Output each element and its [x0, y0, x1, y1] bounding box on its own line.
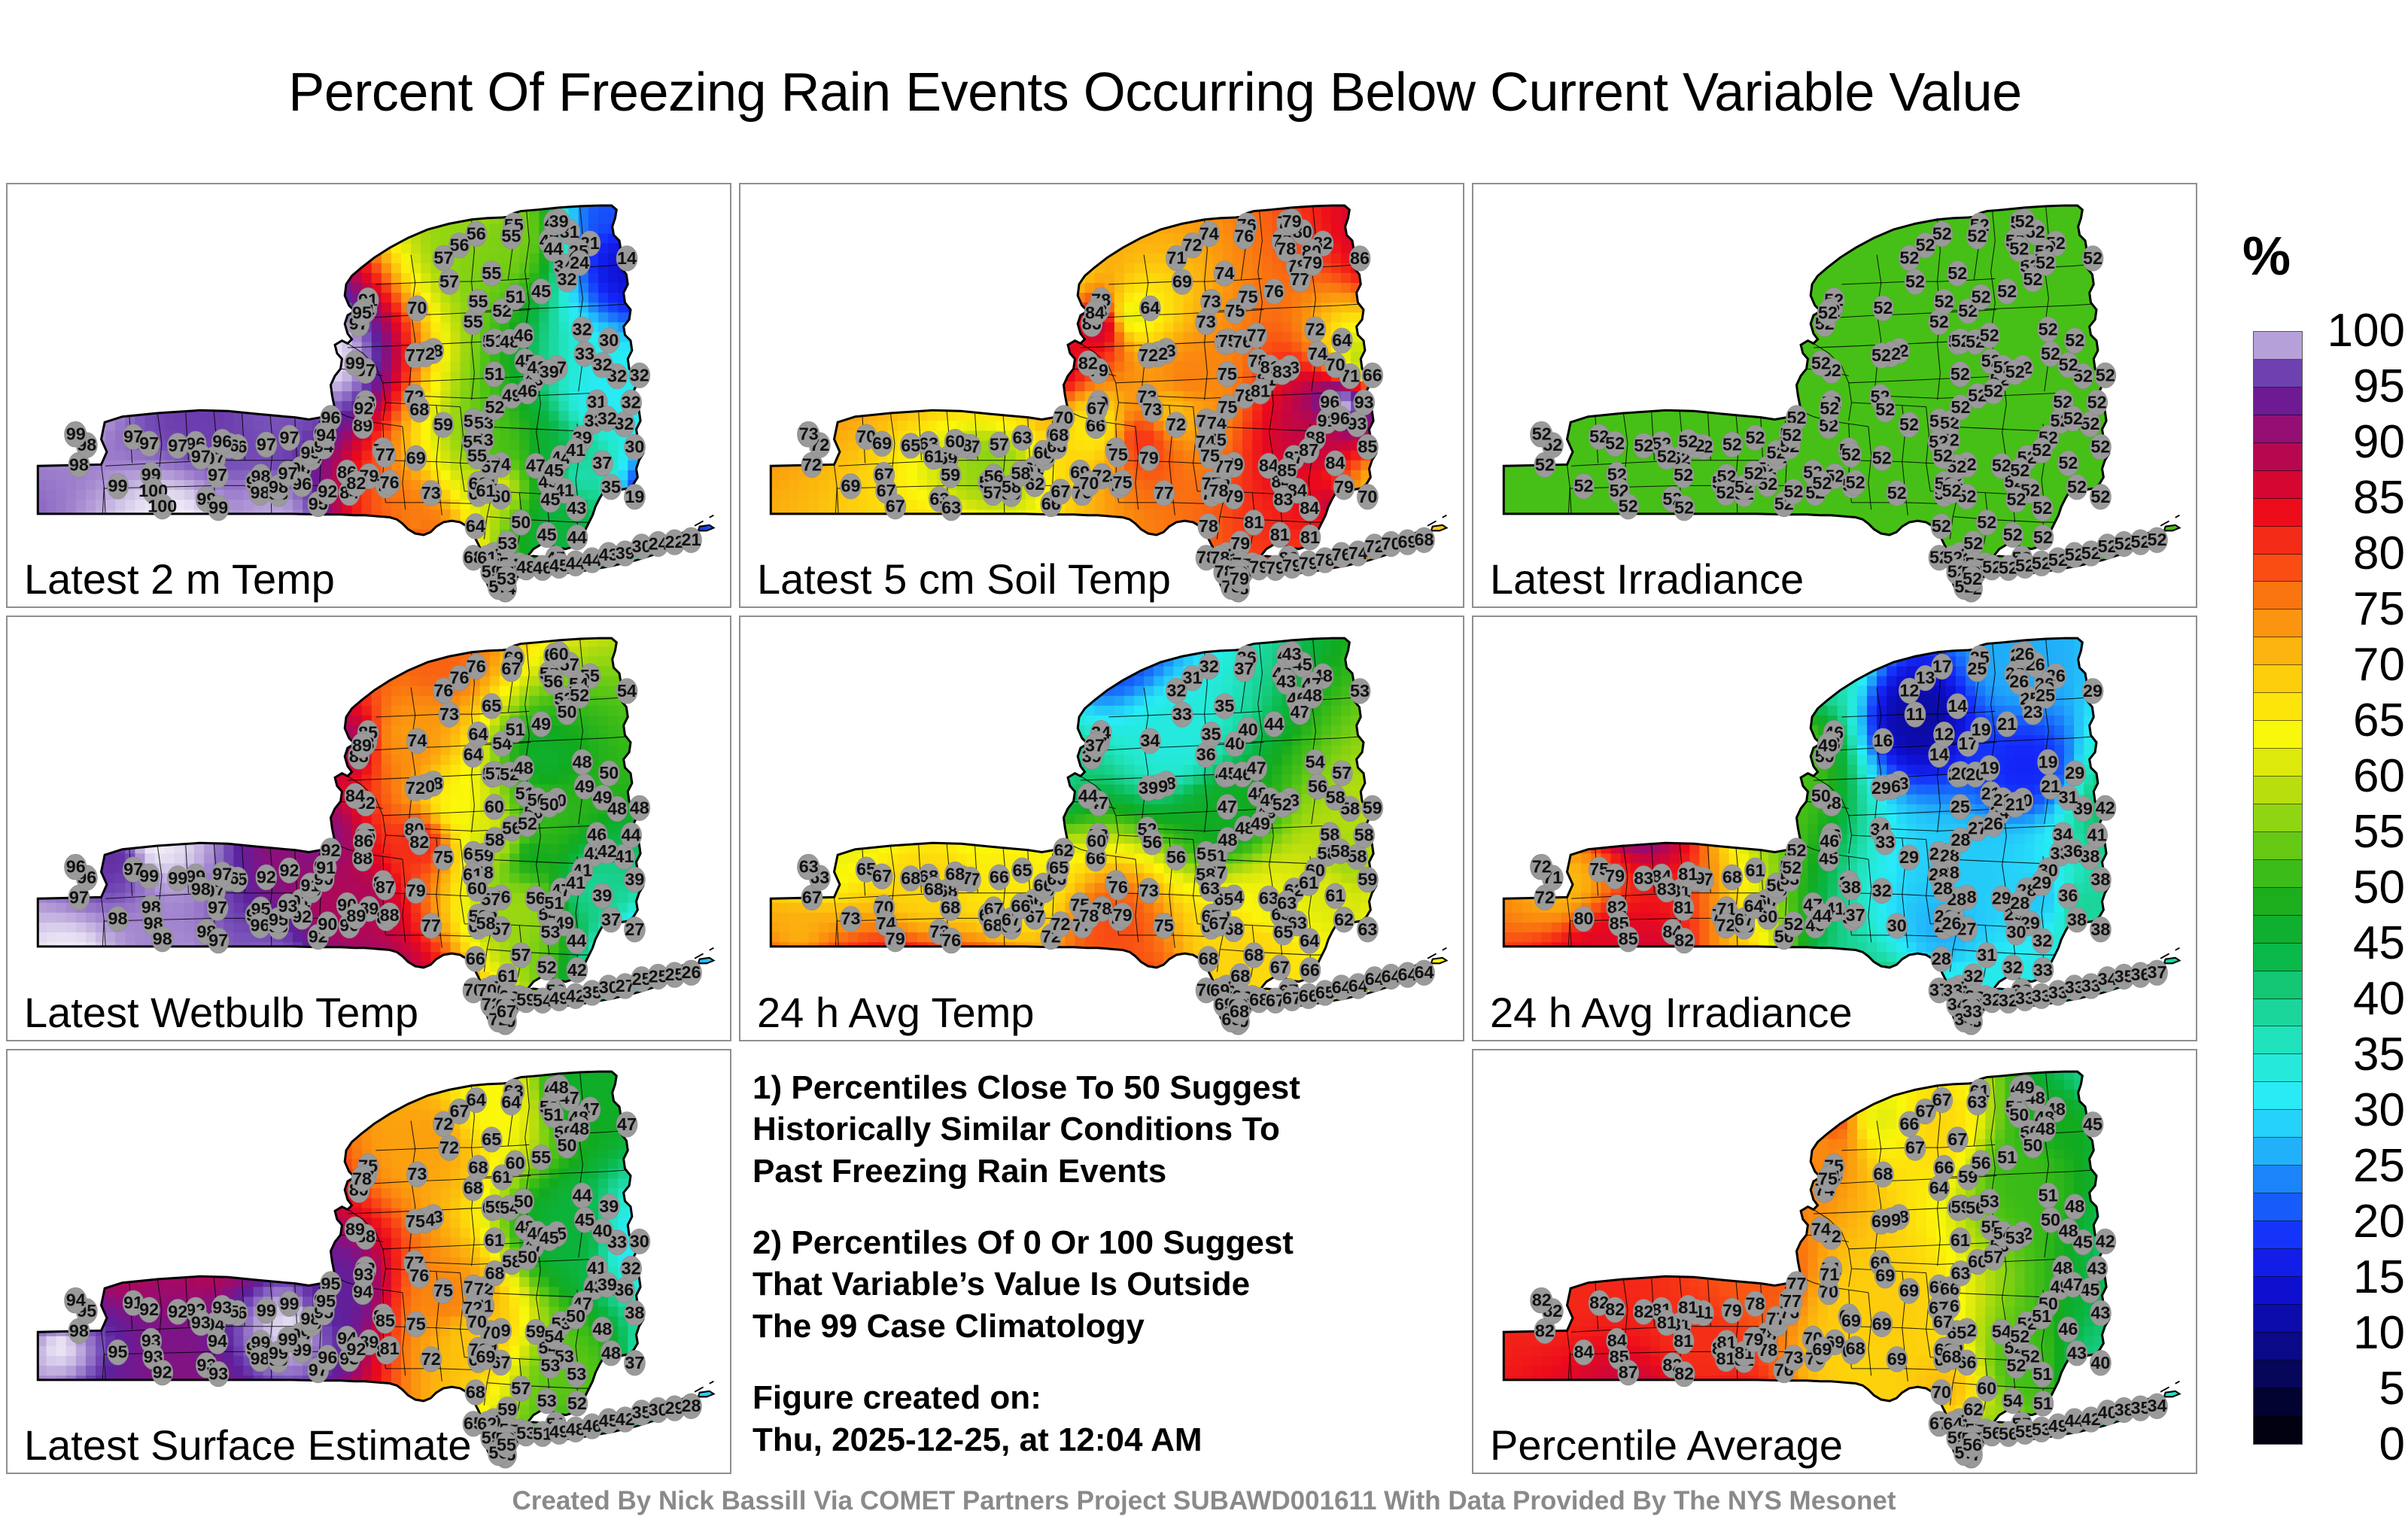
- station-marker: 78: [1208, 479, 1229, 504]
- colorbar-segment: [2254, 832, 2302, 860]
- map-panel-latest-5cm-soil-temp[interactable]: 6761675773576359575669576663586563706662…: [739, 183, 1464, 608]
- station-marker: 82: [1674, 929, 1695, 954]
- station-marker: 51: [2038, 1183, 2059, 1208]
- station-marker: 29: [2064, 761, 2085, 786]
- panel-label: Latest 5 cm Soil Temp: [757, 558, 1171, 600]
- svg-text:32: 32: [573, 319, 592, 339]
- station-marker: 68: [1722, 865, 1743, 890]
- station-marker: 52: [1743, 460, 1764, 486]
- station-marker: 53: [1979, 1189, 2000, 1214]
- colorbar-tick-label: 50: [2353, 865, 2405, 911]
- station-marker: 83: [1656, 877, 1677, 903]
- station-marker: 52: [1871, 445, 1893, 471]
- station-marker: 52: [1947, 261, 1968, 287]
- station-marker: 56: [1962, 1432, 1983, 1457]
- svg-text:41: 41: [566, 440, 585, 460]
- station-marker: 70: [467, 1309, 488, 1335]
- map-panel-latest-wetbulb-temp[interactable]: 9891989596969997959598929292969098979192…: [6, 616, 731, 1041]
- colorbar-segment: [2254, 471, 2302, 499]
- colorbar-segment: [2254, 1249, 2302, 1277]
- station-marker: 52: [2035, 251, 2056, 276]
- station-marker: 97: [256, 432, 277, 457]
- station-marker: 51: [2032, 1361, 2053, 1387]
- station-marker: 60: [1086, 829, 1107, 855]
- station-marker: 57: [1983, 1245, 2004, 1270]
- map-panel-24h-avg-temp[interactable]: 7066746763676868676773667265676673656667…: [739, 616, 1464, 1041]
- station-marker: 94: [65, 1287, 87, 1313]
- colorbar-segment: [2254, 1333, 2302, 1360]
- station-marker: 52: [567, 1391, 588, 1416]
- svg-text:55: 55: [468, 292, 488, 312]
- station-marker: 43: [566, 496, 587, 521]
- station-marker: 68: [465, 1379, 486, 1405]
- station-marker: 52: [1931, 514, 1952, 540]
- station-marker: 68: [1941, 1344, 1962, 1369]
- station-marker: 37: [1233, 657, 1254, 682]
- station-marker: 78: [351, 1166, 372, 1192]
- svg-text:97: 97: [191, 447, 211, 467]
- station-marker: 82: [409, 830, 430, 856]
- svg-text:30: 30: [625, 437, 644, 457]
- station-marker: 48: [513, 755, 534, 781]
- station-marker: 45: [539, 1225, 560, 1251]
- station-marker: 84: [1258, 453, 1279, 479]
- panel-label: 24 h Avg Irradiance: [1490, 992, 1853, 1034]
- station-marker: 59: [1357, 868, 1378, 893]
- station-marker: 36: [2057, 883, 2078, 909]
- station-marker: 45: [574, 1207, 595, 1233]
- station-marker: 42: [2095, 1229, 2116, 1254]
- station-marker: 61: [1950, 1227, 1971, 1253]
- station-marker: 52: [2006, 487, 2027, 512]
- station-marker: 67: [500, 657, 521, 682]
- svg-text:97: 97: [168, 436, 187, 455]
- station-marker: 52: [2090, 484, 2111, 509]
- station-marker: 76: [409, 1263, 430, 1288]
- panel-label: Latest 2 m Temp: [24, 558, 335, 600]
- station-marker: 74: [1214, 261, 1235, 287]
- station-marker: 86: [1349, 246, 1370, 272]
- station-marker: 97: [211, 862, 233, 888]
- station-marker: 59: [525, 1319, 546, 1345]
- station-marker: 52: [2006, 1353, 2027, 1378]
- station-marker: 97: [208, 929, 229, 954]
- station-marker: 50: [1811, 783, 1832, 809]
- station-marker: 52: [2009, 1324, 2030, 1349]
- station-marker: 74: [1307, 342, 1328, 367]
- station-marker: 50: [517, 1245, 538, 1270]
- station-marker: 81: [1243, 510, 1264, 536]
- station-marker: 32: [572, 317, 593, 342]
- colorbar-tick-label: 95: [2353, 363, 2405, 410]
- station-marker: 33: [2033, 958, 2054, 983]
- station-marker: 77: [1154, 481, 1175, 506]
- colorbar-segment: [2254, 1082, 2302, 1110]
- colorbar-segment: [2254, 1388, 2302, 1416]
- station-marker: 61: [923, 444, 944, 470]
- colorbar-segment: [2254, 1026, 2302, 1054]
- colorbar-legend: % 10095908580757065605550454035302520151…: [2221, 226, 2408, 1475]
- svg-text:55: 55: [464, 312, 483, 331]
- station-marker: 12: [1933, 722, 1954, 748]
- station-marker: 72: [1531, 855, 1552, 880]
- station-marker: 52: [1950, 362, 1971, 388]
- station-marker: 84: [1573, 1339, 1595, 1365]
- station-marker: 66: [1010, 894, 1031, 919]
- colorbar-segment: [2254, 888, 2302, 916]
- svg-text:35: 35: [601, 477, 621, 497]
- colorbar-tick-label: 45: [2353, 920, 2405, 967]
- station-marker: 68: [1048, 423, 1069, 448]
- station-marker: 95: [351, 300, 372, 326]
- station-marker: 28: [1932, 877, 1953, 902]
- station-marker: 69: [406, 445, 427, 471]
- station-marker: 87: [375, 875, 396, 901]
- station-marker: 32: [621, 1256, 642, 1281]
- station-marker: 54: [543, 1324, 564, 1349]
- station-marker: 26: [1941, 911, 1962, 937]
- station-marker: 50: [565, 1303, 586, 1329]
- station-marker: 24: [569, 251, 590, 276]
- station-marker: 21: [680, 527, 701, 553]
- panel-label: Latest Surface Estimate: [24, 1424, 472, 1467]
- station-marker: 93: [1354, 390, 1375, 415]
- station-marker: 79: [1722, 1298, 1743, 1324]
- station-marker: 68: [467, 1155, 488, 1181]
- station-marker: 65: [481, 1126, 502, 1152]
- station-marker: 66: [1899, 1111, 1920, 1137]
- colorbar-segment: [2254, 555, 2302, 582]
- station-marker: 84: [1299, 496, 1320, 521]
- station-marker: 52: [2008, 236, 2029, 262]
- station-marker: 32: [597, 406, 618, 432]
- station-marker: 96: [250, 913, 271, 939]
- station-marker: 67: [496, 999, 517, 1025]
- station-marker: 99: [278, 1291, 299, 1317]
- station-marker: 63: [1966, 1090, 1987, 1115]
- station-marker: 52: [1966, 223, 1987, 249]
- station-marker: 52: [1618, 494, 1639, 519]
- colorbar-segment: [2254, 1305, 2302, 1333]
- station-marker: 38: [2066, 907, 2087, 933]
- station-marker: 56: [1166, 845, 1187, 871]
- station-marker: 79: [1302, 251, 1323, 276]
- station-marker: 84: [1084, 300, 1105, 326]
- station-marker: 11: [1905, 702, 1926, 728]
- station-marker: 62: [1333, 907, 1354, 933]
- svg-text:45: 45: [541, 490, 561, 509]
- station-marker: 97: [277, 460, 298, 486]
- station-marker: 82: [1531, 1287, 1552, 1313]
- station-marker: 46: [513, 323, 534, 348]
- station-marker: 78: [1198, 514, 1219, 540]
- station-marker: 92: [353, 396, 374, 421]
- station-marker: 42: [597, 839, 618, 865]
- svg-text:37: 37: [592, 453, 612, 473]
- station-marker: 60: [549, 642, 570, 667]
- station-marker: 64: [1299, 929, 1320, 954]
- station-marker: 42: [567, 958, 588, 983]
- svg-text:99: 99: [345, 353, 365, 372]
- svg-text:32: 32: [622, 392, 641, 412]
- svg-text:97: 97: [279, 427, 299, 447]
- panel-label: 24 h Avg Temp: [757, 992, 1034, 1034]
- station-marker: 44: [1078, 783, 1099, 809]
- station-marker: 99: [256, 1298, 277, 1324]
- svg-text:32: 32: [630, 365, 649, 385]
- station-marker: 85: [1276, 458, 1297, 484]
- station-marker: 70: [406, 296, 427, 321]
- colorbar-tick-label: 20: [2353, 1199, 2405, 1245]
- station-marker: 52: [1811, 351, 1832, 376]
- station-marker: 39: [591, 883, 613, 909]
- station-marker: 69: [871, 431, 892, 457]
- station-marker: 58: [1354, 822, 1375, 848]
- station-marker: 98: [190, 877, 211, 903]
- station-marker: 79: [406, 878, 427, 904]
- station-marker: 89: [345, 904, 366, 929]
- station-marker: 38: [624, 1300, 645, 1326]
- station-marker: 60: [467, 877, 488, 902]
- station-marker: 52: [1872, 296, 1893, 321]
- svg-text:59: 59: [433, 415, 453, 434]
- station-marker: 72: [433, 1111, 454, 1137]
- svg-text:57: 57: [439, 272, 459, 291]
- map-panel-latest-surface-estimate[interactable]: 9399939994989294969995999799959893919899…: [6, 1049, 731, 1474]
- station-marker: 67: [1905, 1135, 1926, 1160]
- station-marker: 61: [484, 1227, 505, 1253]
- note-2-line-2: That Variable’s Value Is Outside: [752, 1263, 1451, 1305]
- station-marker: 52: [2033, 524, 2054, 550]
- svg-text:92: 92: [354, 399, 373, 418]
- station-marker: 26: [2008, 670, 2029, 695]
- station-marker: 82: [1604, 1297, 1625, 1323]
- svg-text:61: 61: [476, 481, 495, 500]
- station-marker: 47: [525, 453, 546, 479]
- station-marker: 29: [1899, 845, 1920, 871]
- station-marker: 66: [465, 947, 486, 972]
- colorbar-segment: [2254, 971, 2302, 999]
- station-marker: 48: [629, 795, 650, 821]
- station-marker: 78: [1078, 904, 1099, 929]
- notes-spacer: [752, 1192, 1451, 1222]
- station-marker: 30: [629, 1229, 650, 1254]
- created-on-label: Figure created on:: [752, 1377, 1451, 1418]
- station-marker: 48: [1302, 683, 1323, 709]
- svg-text:99: 99: [208, 498, 228, 518]
- panel-label: Latest Wetbulb Temp: [24, 992, 418, 1034]
- svg-text:44: 44: [567, 527, 587, 547]
- station-marker: 48: [591, 1317, 613, 1342]
- station-marker: 52: [2057, 451, 2078, 476]
- notes-panel: 1) Percentiles Close To 50 SuggestHistor…: [739, 1049, 1464, 1474]
- colorbar-tick-label: 75: [2353, 586, 2405, 633]
- station-marker: 52: [1783, 912, 1804, 938]
- station-marker: 52: [1656, 444, 1677, 470]
- station-marker: 52: [1871, 343, 1892, 369]
- station-marker: 52: [2066, 474, 2087, 500]
- station-marker: 75: [405, 1208, 426, 1234]
- station-marker: 30: [598, 328, 619, 354]
- station-marker: 39: [624, 868, 645, 893]
- station-marker: 81: [1269, 522, 1291, 548]
- station-marker: 57: [983, 480, 1004, 506]
- svg-text:24: 24: [570, 253, 589, 272]
- station-marker: 50: [510, 510, 531, 536]
- station-marker: 34: [2146, 1394, 2167, 1419]
- station-marker: 26: [1983, 812, 2004, 837]
- station-marker: 75: [1112, 470, 1133, 496]
- station-marker: 94: [315, 423, 336, 448]
- svg-text:55: 55: [467, 446, 487, 466]
- station-marker: 97: [190, 444, 211, 470]
- map-panel-latest-irradiance[interactable]: 5252525252525252525252525252525252525252…: [1472, 183, 2197, 608]
- station-marker: 26: [2014, 642, 2036, 667]
- station-marker: 64: [1331, 328, 1352, 354]
- station-marker: 19: [2038, 749, 2059, 775]
- colorbar-tick-label: 55: [2353, 809, 2405, 856]
- station-marker: 52: [1811, 471, 1832, 497]
- svg-text:76: 76: [380, 473, 400, 492]
- station-marker: 52: [2082, 246, 2103, 272]
- svg-text:45: 45: [531, 281, 551, 301]
- station-marker: 68: [940, 895, 961, 921]
- station-marker: 67: [1947, 1126, 1968, 1152]
- colorbar-segment: [2254, 332, 2302, 360]
- station-marker: 60: [484, 795, 505, 820]
- station-marker: 57: [433, 245, 454, 271]
- station-marker: 29: [2031, 871, 2052, 896]
- station-marker: 66: [989, 865, 1010, 890]
- station-marker: 31: [1976, 943, 1997, 968]
- svg-text:30: 30: [599, 330, 619, 350]
- station-marker: 92: [317, 479, 338, 505]
- choropleth-map: 8260857172738481777180685661795684755660…: [1473, 617, 2196, 1039]
- station-marker: 69: [1811, 1337, 1832, 1363]
- station-marker: 37: [1845, 903, 1866, 929]
- station-marker: 65: [1273, 920, 1294, 946]
- station-marker: 99: [277, 1327, 298, 1352]
- station-marker: 82: [1633, 1299, 1654, 1324]
- station-marker: 33: [1172, 702, 1193, 728]
- station-marker: 67: [885, 494, 906, 519]
- station-marker: 52: [1673, 463, 1694, 488]
- map-panel-24h-avg-irradiance[interactable]: 8260857172738481777180685661795684755660…: [1472, 616, 2197, 1041]
- station-marker: 86: [353, 829, 374, 855]
- map-panel-percentile-average[interactable]: 8478858182818181818184797678817782827778…: [1472, 1049, 2197, 1474]
- station-marker: 16: [1872, 728, 1893, 754]
- colorbar-segment: [2254, 388, 2302, 415]
- station-marker: 56: [1307, 774, 1328, 800]
- station-marker: 52: [537, 955, 558, 980]
- station-marker: 93: [277, 894, 298, 919]
- station-marker: 39: [539, 360, 560, 385]
- station-marker: 39: [549, 209, 570, 235]
- map-canvas: 9996100989998969796989997959796949997959…: [8, 184, 730, 606]
- station-marker: 68: [1872, 1162, 1893, 1187]
- station-marker: 51: [2031, 1303, 2052, 1329]
- choropleth-map: 9996100989998969796989997959796949997959…: [8, 184, 730, 606]
- station-marker: 79: [1604, 864, 1625, 889]
- station-marker: 33: [1874, 830, 1896, 856]
- station-marker: 52: [1971, 284, 1992, 310]
- station-marker: 52: [1932, 443, 1953, 469]
- station-marker: 63: [798, 855, 819, 880]
- map-panel-latest-2m-temp[interactable]: 9996100989998969796989997959796949997959…: [6, 183, 731, 608]
- station-marker: 52: [1744, 425, 1765, 451]
- station-marker: 69: [1871, 1312, 1893, 1337]
- station-marker: 35: [1200, 722, 1221, 748]
- svg-text:55: 55: [482, 263, 501, 283]
- station-marker: 47: [1217, 795, 1238, 820]
- station-marker: 55: [467, 443, 488, 469]
- station-marker: 57: [989, 432, 1010, 457]
- station-marker: 25: [1950, 795, 1971, 820]
- station-marker: 67: [1932, 1309, 1953, 1335]
- colorbar-tick-label: 10: [2353, 1310, 2405, 1357]
- station-marker: 52: [1604, 431, 1625, 457]
- station-marker: 39: [597, 1272, 618, 1297]
- station-marker: 81: [1656, 1310, 1677, 1336]
- station-marker: 63: [1011, 425, 1032, 451]
- station-marker: 60: [1976, 1375, 1997, 1401]
- colorbar-tick-label: 35: [2353, 1032, 2405, 1078]
- colorbar-tick-label: 0: [2379, 1421, 2405, 1468]
- colorbar-tick-label: 15: [2353, 1254, 2405, 1301]
- station-marker: 29: [1871, 776, 1892, 801]
- station-marker: 41: [2087, 822, 2108, 848]
- station-marker: 37: [2146, 960, 2167, 986]
- footer-credit: Created By Nick Bassill Via COMET Partne…: [0, 1486, 2408, 1516]
- svg-text:82: 82: [346, 473, 366, 493]
- station-marker: 80: [1573, 907, 1595, 932]
- station-marker: 37: [600, 907, 622, 933]
- station-marker: 12: [1899, 678, 1920, 704]
- colorbar-segment: [2254, 1416, 2302, 1444]
- station-marker: 61: [1744, 858, 1765, 883]
- station-marker: 47: [1246, 755, 1267, 781]
- station-marker: 52: [2064, 328, 2085, 354]
- choropleth-map: 7066746763676868676773667265676673656667…: [740, 617, 1463, 1039]
- station-marker: 43: [2090, 1300, 2111, 1326]
- colorbar-tick-label: 65: [2353, 698, 2405, 744]
- station-marker: 52: [1905, 269, 1926, 295]
- station-marker: 51: [2033, 1391, 2054, 1416]
- station-marker: 95: [108, 1339, 129, 1365]
- station-marker: 21: [2040, 774, 2061, 800]
- station-marker: 25: [2035, 683, 2056, 709]
- station-marker: 45: [543, 458, 564, 484]
- station-marker: 73: [439, 702, 460, 728]
- colorbar-segment: [2254, 777, 2302, 804]
- svg-text:57: 57: [433, 248, 453, 267]
- map-canvas: 8478858182818181818184797678817782827778…: [1473, 1050, 2196, 1473]
- svg-text:64: 64: [466, 516, 485, 536]
- station-marker: 52: [1991, 453, 2012, 479]
- station-marker: 72: [1050, 912, 1071, 938]
- station-marker: 71: [1166, 245, 1187, 271]
- station-marker: 52: [1933, 289, 1954, 315]
- station-marker: 49: [1250, 812, 1271, 837]
- station-marker: 44: [543, 236, 564, 262]
- station-marker: 52: [1573, 473, 1595, 499]
- svg-text:51: 51: [506, 287, 525, 306]
- station-marker: 99: [208, 495, 229, 521]
- station-marker: 55: [496, 1432, 517, 1457]
- station-marker: 79: [1282, 209, 1303, 235]
- station-marker: 59: [940, 463, 961, 488]
- station-marker: 21: [2005, 792, 2026, 818]
